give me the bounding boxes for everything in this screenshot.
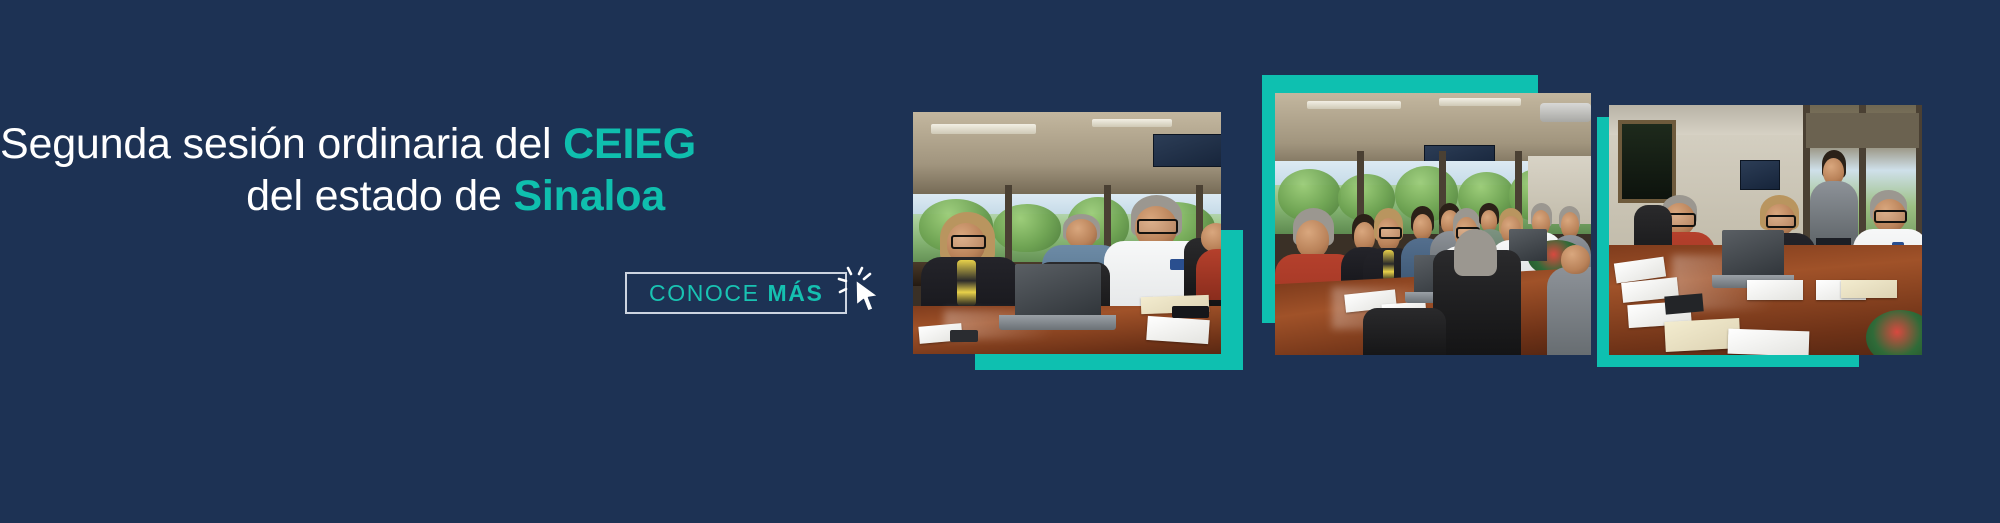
conoce-mas-button[interactable]: CONOCE MÁS: [625, 272, 847, 314]
headline-block: Segunda sesión ordinaria del CEIEG del e…: [0, 118, 870, 222]
photo-2-image: [1275, 93, 1591, 355]
photo-3-image: [1609, 105, 1922, 355]
gallery-photo-3[interactable]: [1597, 105, 1922, 370]
gallery-photo-1[interactable]: [913, 112, 1243, 370]
headline-line-1-accent: CEIEG: [563, 120, 696, 168]
headline-line-1: Segunda sesión ordinaria del CEIEG: [0, 118, 870, 170]
conoce-mas-label: CONOCE MÁS: [649, 280, 823, 307]
headline-line-2-accent: Sinaloa: [513, 172, 665, 220]
cta-label-bold: MÁS: [768, 280, 824, 306]
cta-wrapper: CONOCE MÁS: [625, 272, 847, 314]
headline-line-2-plain: del estado de: [246, 172, 513, 220]
headline-line-1-plain: Segunda sesión ordinaria del: [0, 120, 563, 168]
headline-line-2: del estado de Sinaloa: [0, 170, 870, 222]
photo-1-image: [913, 112, 1221, 354]
gallery-photo-2[interactable]: [1262, 75, 1592, 365]
cta-label-regular: CONOCE: [649, 280, 768, 306]
hero-banner: Segunda sesión ordinaria del CEIEG del e…: [0, 0, 2000, 523]
